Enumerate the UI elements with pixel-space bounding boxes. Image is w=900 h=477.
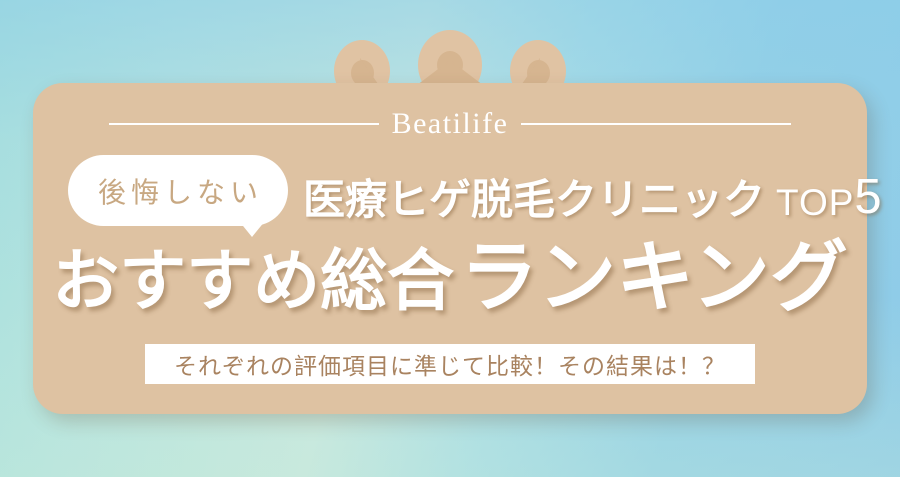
subtitle-japanese: 医療ヒゲ脱毛クリニック (303, 179, 765, 221)
speech-bubble-label: 後悔しない (93, 171, 263, 211)
promo-card: Beatilife 後悔しない 医療ヒゲ脱毛クリニック TOP 5 おすすめ総合… (33, 83, 867, 414)
brand-row: Beatilife (33, 104, 867, 144)
subtitle-rank-count: 5 (854, 174, 881, 221)
page-title-part2: ランキング (460, 238, 848, 316)
speech-bubble: 後悔しない (68, 155, 288, 226)
speech-bubble-tail (239, 221, 265, 237)
divider-line-left (109, 123, 379, 125)
subtitle-top-label: TOP (776, 184, 854, 221)
tagline-text: それぞれの評価項目に準じて比較！その結果は！？ (174, 347, 726, 381)
page-title: おすすめ総合 ランキング (33, 238, 867, 316)
divider-line-right (521, 123, 791, 125)
brand-name: Beatilife (392, 109, 509, 139)
page-title-part1: おすすめ総合 (52, 248, 454, 315)
tagline-banner: それぞれの評価項目に準じて比較！その結果は！？ (145, 344, 755, 384)
subtitle: 医療ヒゲ脱毛クリニック TOP 5 (303, 165, 882, 221)
